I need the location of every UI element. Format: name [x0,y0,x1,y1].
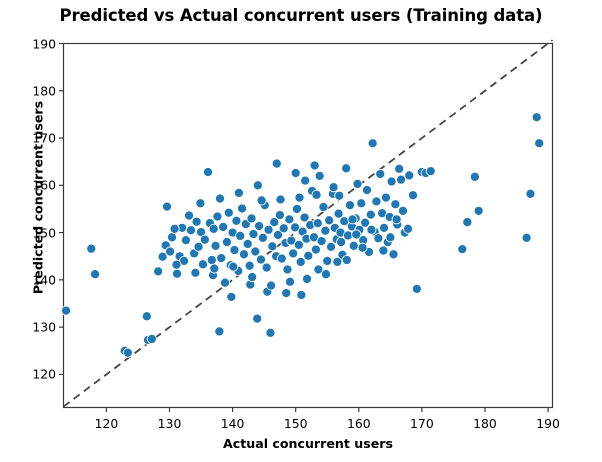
scatter-point [349,241,358,250]
scatter-point [170,224,179,233]
scatter-point [372,197,381,206]
x-tick-label: 130 [158,416,182,431]
scatter-point [379,223,388,232]
scatter-point [211,241,220,250]
x-tick-label: 140 [221,416,245,431]
scatter-point [333,257,342,266]
scatter-point [392,215,401,224]
scatter-point [283,265,292,274]
scatter-point [311,245,320,254]
scatter-point [172,260,181,269]
scatter-point [257,196,266,205]
scatter-point [315,171,324,180]
scatter-point [353,179,362,188]
scatter-point [386,233,395,242]
scatter-point [215,327,224,336]
scatter-point [391,200,400,209]
scatter-point [366,210,375,219]
scatter-point [282,289,291,298]
scatter-point [317,237,326,246]
scatter-point [184,211,193,220]
scatter-point [181,236,190,245]
scatter-point [220,278,229,287]
scatter-point [154,267,163,276]
scatter-point [162,202,171,211]
scatter-point [196,199,205,208]
scatter-point [248,272,257,281]
scatter-point [291,168,300,177]
scatter-point [276,195,285,204]
scatter-point [224,208,233,217]
scatter-point [301,176,310,185]
scatter-point [203,167,212,176]
y-tick-label: 130 [22,320,56,335]
scatter-point [526,189,535,198]
scatter-point [239,250,248,259]
scatter-point [256,255,265,264]
scatter-point [227,292,236,301]
scatter-point [87,244,96,253]
scatter-point [405,171,414,180]
scatter-point [329,183,338,192]
scatter-point [207,255,216,264]
scatter-point [395,164,404,173]
scatter-point [319,202,328,211]
scatter-point [357,199,366,208]
scatter-point [251,247,260,256]
scatter-point [412,284,421,293]
scatter-point [230,245,239,254]
scatter-point [289,249,298,258]
scatter-point [381,193,390,202]
scatter-point [255,221,264,230]
scatter-point [172,269,181,278]
x-tick-label: 170 [410,416,434,431]
scatter-point [374,234,383,243]
scatter-point [352,230,361,239]
scatter-point [249,229,258,238]
scatter-point [302,274,311,283]
scatter-point [219,222,228,231]
scatter-point [297,290,306,299]
scatter-point [426,167,435,176]
scatter-point [403,224,412,233]
scatter-point [358,243,367,252]
scatter-point [217,254,226,263]
scatter-point [376,169,385,178]
scatter-point [123,348,132,357]
scatter-point [236,231,245,240]
scatter-point [279,224,288,233]
scatter-point [266,281,275,290]
scatter-point [379,246,388,255]
scatter-point [167,233,176,242]
x-tick-label: 160 [347,416,371,431]
scatter-point [470,172,479,181]
scatter-point [335,191,344,200]
scatter-point [387,177,396,186]
scatter-point [247,214,256,223]
scatter-point [458,245,467,254]
scatter-point [90,270,99,279]
scatter-point [292,204,301,213]
scatter-point [398,206,407,215]
scatter-point [285,215,294,224]
scatter-point [535,139,544,148]
scatter-point [166,247,175,256]
scatter-point [272,159,281,168]
scatter-point [408,191,417,200]
scatter-point [277,254,286,263]
x-tick-label: 190 [536,416,560,431]
scatter-point [186,226,195,235]
scatter-point [362,185,371,194]
x-tick-label: 120 [95,416,119,431]
scatter-point [200,235,209,244]
scatter-point [389,250,398,259]
scatter-point [61,306,70,315]
x-axis-label: Actual concurrent users [63,436,553,451]
scatter-point [213,212,222,221]
scatter-points [61,113,543,358]
scatter-point [321,270,330,279]
scatter-point [396,175,405,184]
scatter-point [367,225,376,234]
scatter-point [266,328,275,337]
scatter-point [232,216,241,225]
scatter-point [342,255,351,264]
scatter-point [198,260,207,269]
scatter-point [268,242,277,251]
scatter-point [210,264,219,273]
scatter-point [209,224,218,233]
x-tick-label: 180 [473,416,497,431]
scatter-point [262,263,271,272]
scatter-point [321,226,330,235]
y-tick-label: 180 [22,83,56,98]
scatter-point [245,261,254,270]
scatter-point [253,314,262,323]
scatter-point [337,237,346,246]
scatter-point [258,233,267,242]
scatter-point [313,219,322,228]
scatter-point [323,256,332,265]
scatter-point [222,237,231,246]
chart-figure: Predicted vs Actual concurrent users (Tr… [0,0,602,462]
scatter-point [295,193,304,202]
scatter-point [310,161,319,170]
scatter-point [215,194,224,203]
scatter-point [474,206,483,215]
scatter-point [345,201,354,210]
scatter-point [191,268,200,277]
y-axis-label: Predicted concurrent users [31,98,46,298]
scatter-point [522,233,531,242]
scatter-point [532,113,541,122]
scatter-point [463,218,472,227]
scatter-point [237,204,246,213]
scatter-point [296,257,305,266]
scatter-point [243,239,252,248]
scatter-point [312,190,321,199]
scatter-point [348,215,357,224]
scatter-point [275,211,284,220]
scatter-point [342,164,351,173]
scatter-point [192,217,201,226]
y-tick-label: 120 [22,367,56,382]
scatter-point [285,277,294,286]
scatter-point [234,188,243,197]
scatter-plot-canvas [0,0,602,462]
scatter-point [229,262,238,271]
scatter-point [142,312,151,321]
scatter-point [368,139,377,148]
scatter-point [253,181,262,190]
scatter-point [147,334,156,343]
scatter-point [304,251,313,260]
scatter-point [294,240,303,249]
x-tick-label: 150 [284,416,308,431]
y-tick-label: 190 [22,36,56,51]
